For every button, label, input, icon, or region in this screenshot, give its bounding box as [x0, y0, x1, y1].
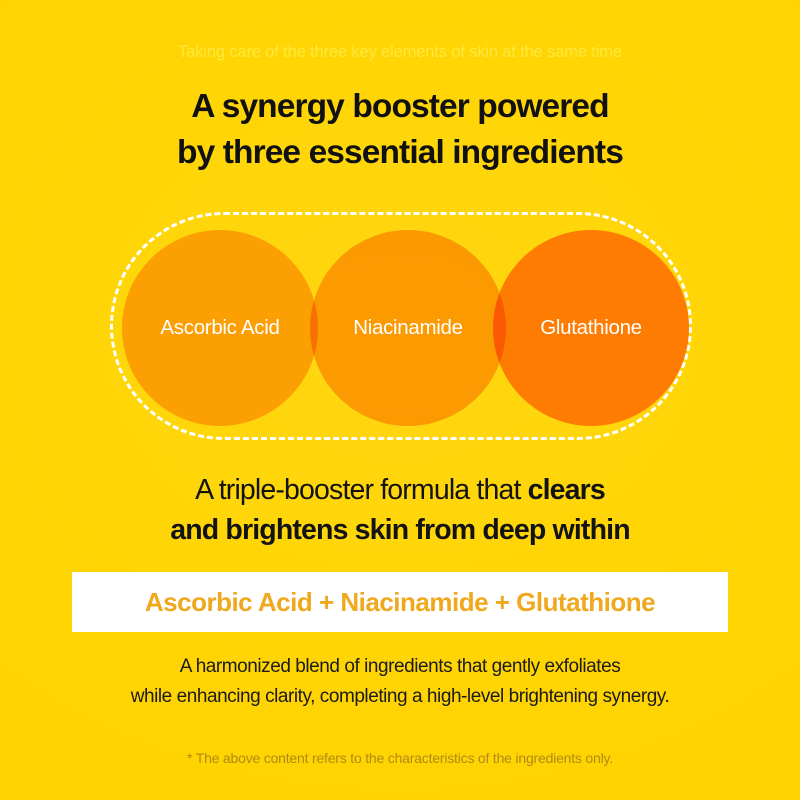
page-title: A synergy booster powered by three essen… — [0, 84, 800, 176]
headline-line-2: by three essential ingredients — [0, 130, 800, 176]
sub-headline-line-1: A triple-booster formula that clears — [0, 470, 800, 510]
eyebrow-text: Taking care of the three key elements of… — [0, 43, 800, 62]
body-paragraph: A harmonized blend of ingredients that g… — [0, 652, 800, 712]
ingredient-venn-diagram: Ascorbic Acid Niacinamide Glutathione — [110, 212, 692, 440]
ingredient-summary-bar: Ascorbic Acid + Niacinamide + Glutathion… — [72, 572, 728, 632]
sub-headline: A triple-booster formula that clears and… — [0, 470, 800, 550]
venn-circle-glutathione — [493, 230, 689, 426]
venn-circle-niacinamide — [310, 230, 506, 426]
venn-circle-ascorbic-acid — [122, 230, 318, 426]
ingredient-summary-text: Ascorbic Acid + Niacinamide + Glutathion… — [145, 587, 655, 618]
sub-headline-line-2: and brightens skin from deep within — [0, 510, 800, 550]
body-line-2: while enhancing clarity, completing a hi… — [0, 682, 800, 712]
promo-poster: Taking care of the three key elements of… — [0, 0, 800, 800]
body-line-1: A harmonized blend of ingredients that g… — [0, 652, 800, 682]
footnote-disclaimer: * The above content refers to the charac… — [0, 750, 800, 766]
sub-headline-emphasis: clears — [528, 474, 605, 506]
sub-headline-normal: A triple-booster formula that — [195, 474, 528, 506]
sub-headline-line-2-bold: and brightens skin from deep within — [170, 514, 630, 546]
headline-line-1: A synergy booster powered — [0, 84, 800, 130]
